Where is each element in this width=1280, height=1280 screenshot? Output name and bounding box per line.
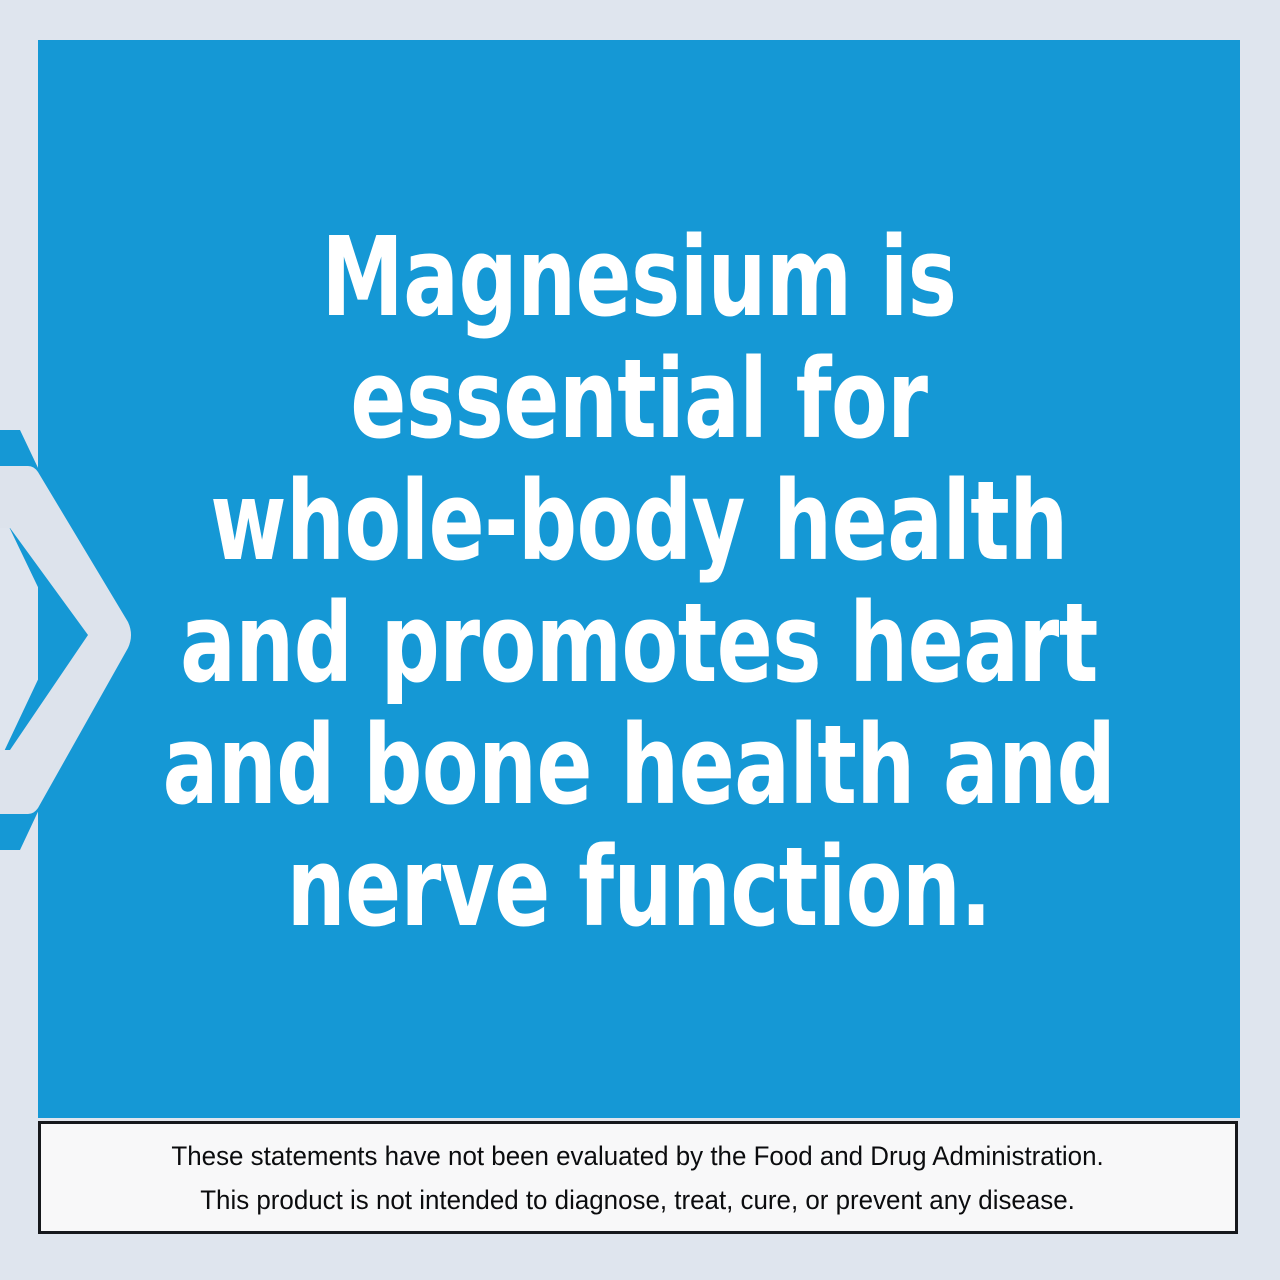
headline-line-6: nerve function. (138, 826, 1140, 948)
headline-line-5: and bone health and (138, 704, 1140, 826)
disclaimer-line-2: This product is not intended to diagnose… (201, 1178, 1076, 1222)
headline-line-4: and promotes heart (138, 582, 1140, 704)
headline-line-3: whole-body health (138, 460, 1140, 582)
headline-line-2: essential for (138, 338, 1140, 460)
headline-line-1: Magnesium is (138, 216, 1140, 338)
page-title: Magnesium is essential for whole-body he… (138, 216, 1140, 948)
disclaimer-line-1: These statements have not been evaluated… (172, 1134, 1104, 1178)
promo-graphic-canvas: Magnesium is essential for whole-body he… (0, 0, 1280, 1280)
fda-disclaimer-box: These statements have not been evaluated… (38, 1121, 1238, 1234)
